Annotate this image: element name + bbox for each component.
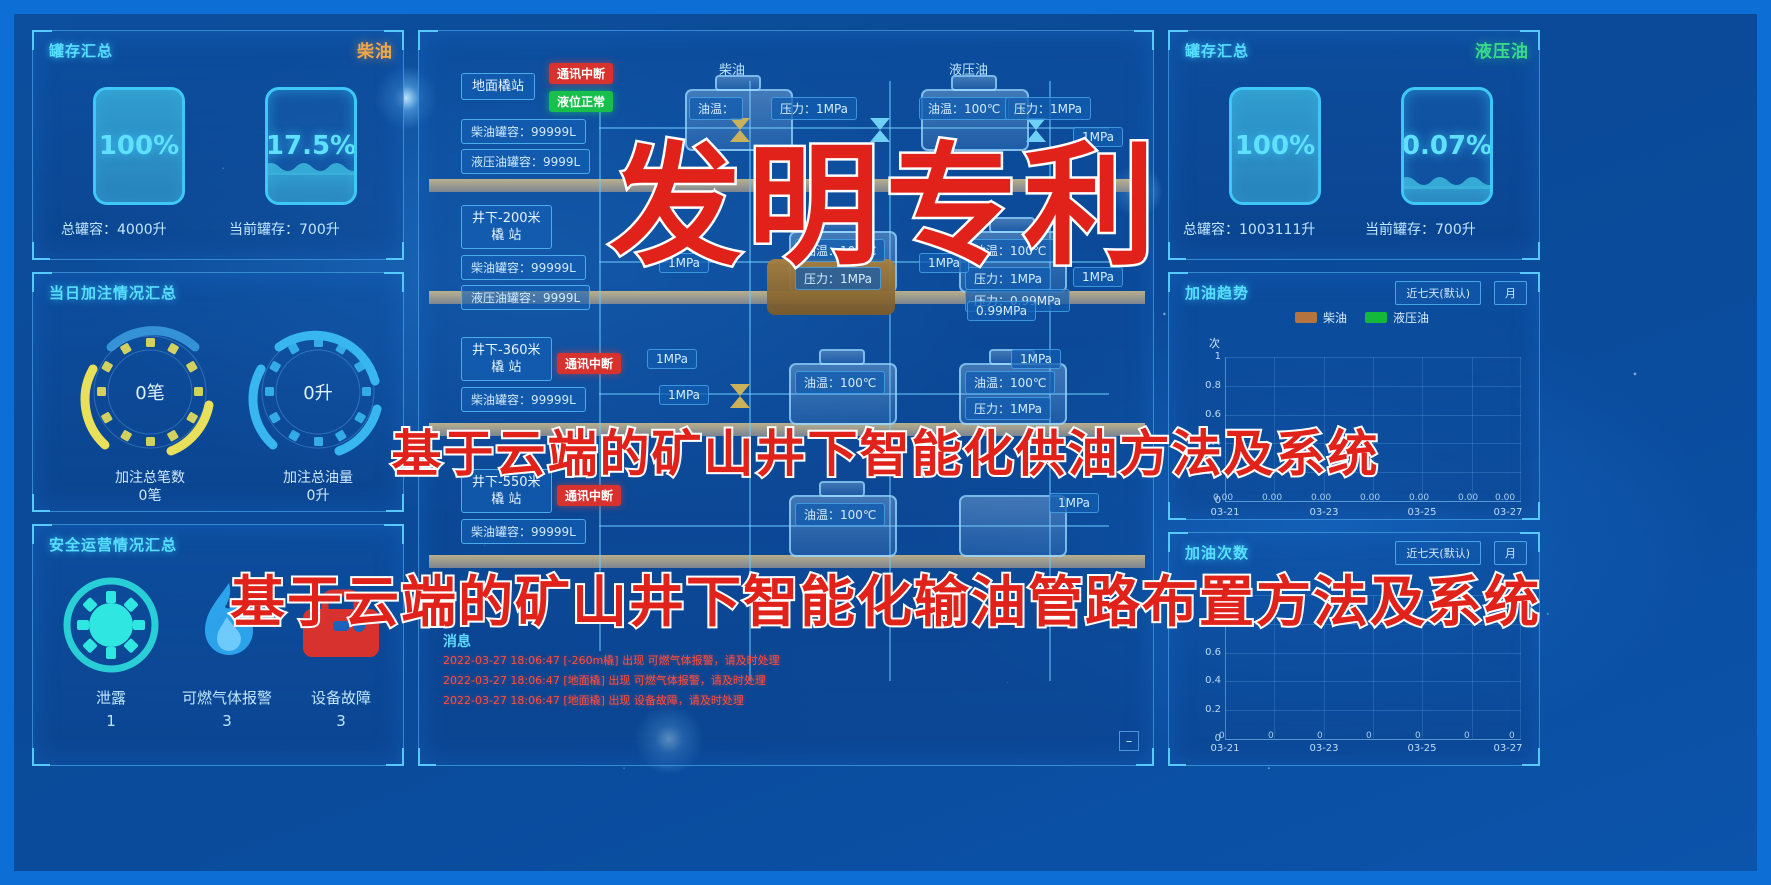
station-tag-diesel-cap: 柴油罐容：99999L (461, 387, 586, 412)
station-badge-level: 液位正常 (549, 91, 613, 112)
oil-type-label: 液压油 (1475, 37, 1529, 62)
panel-title: 安全运营情况汇总 (49, 534, 177, 555)
station-name-line-2: 橇 站 (472, 491, 541, 508)
chart-data-label: 0 (1464, 731, 1470, 741)
station-label-360[interactable]: 井下-360米 橇 站 (461, 337, 552, 381)
chart-data-label: 0 (1219, 731, 1225, 741)
station-name-line-1: 井下-360米 (472, 342, 541, 359)
chart-xtick: 03-25 (1399, 507, 1445, 518)
station-name-line-2: 橇 站 (472, 359, 541, 376)
vessel-temp-tag: 油温：100℃ (795, 371, 885, 394)
tank-total-caption: 总罐容：1003111升 (1183, 219, 1315, 239)
chart-data-label: 0.00 (1213, 493, 1233, 503)
minimize-icon[interactable]: – (1119, 731, 1139, 751)
chart-range-button-month[interactable]: 月 (1494, 281, 1527, 305)
station-badge-comm: 通讯中断 (549, 63, 613, 84)
tank-percent: 100% (96, 90, 182, 202)
chart-data-label: 0.00 (1495, 493, 1515, 503)
legend-label-diesel: 柴油 (1323, 309, 1347, 326)
gear-icon (59, 573, 163, 677)
vessel-temp-tag: 油温：100℃ (965, 371, 1055, 394)
legend-swatch-diesel (1295, 312, 1317, 323)
chart-data-label: 0 (1415, 731, 1421, 741)
message-panel: 消息 2022-03-27 18:06:47 [-260m橇] 出现 可燃气体报… (443, 631, 1133, 711)
safety-item-count: 3 (175, 712, 279, 730)
watermark-patent-title: 发明专利 (610, 100, 1162, 291)
station-tag-diesel-cap: 柴油罐容：99999L (461, 519, 586, 544)
vessel-title-hydraulic: 液压油 (949, 59, 988, 78)
message-row: 2022-03-27 18:06:47 [地面橇] 出现 可燃气体报警，请及时处… (443, 671, 1133, 691)
chart-data-label: 0.00 (1262, 493, 1282, 503)
station-tag-diesel-cap: 柴油罐容：99999L (461, 255, 586, 280)
tank-gauge-total: 100% (1229, 87, 1321, 205)
ring-gauge-volume: 0升 (243, 317, 393, 467)
pressure-tag-precise: 0.99MPa (967, 301, 1036, 321)
station-tag-hyd-cap: 液压油罐容：9999L (461, 285, 590, 310)
message-row: 2022-03-27 18:06:47 [-260m橇] 出现 可燃气体报警，请… (443, 651, 1133, 671)
tank-current-caption: 当前罐存：700升 (1365, 219, 1476, 239)
ring-gauge-value: 0升 (243, 317, 393, 467)
oil-type-label: 柴油 (357, 37, 393, 62)
panel-title: 罐存汇总 (1185, 40, 1249, 61)
chart-ytick: 0.8 (1195, 380, 1221, 391)
legend-item-diesel[interactable]: 柴油 (1295, 309, 1347, 326)
station-badge-comm: 通讯中断 (557, 353, 621, 374)
vessel-neck (819, 349, 865, 365)
panel-right-tank-summary: 罐存汇总 液压油 100% 总罐容：1003111升 0.07% 当前罐存：70… (1168, 30, 1540, 260)
panel-left-daily-refuel: 当日加注情况汇总 (32, 272, 404, 512)
chart-xtick: 03-23 (1301, 743, 1347, 754)
watermark-line-2: 基于云端的矿山井下智能化输油管路布置方法及系统 (230, 557, 1541, 637)
tank-total-caption: 总罐容：4000升 (61, 219, 167, 239)
chart-xtick: 03-23 (1301, 507, 1347, 518)
watermark-line-1: 基于云端的矿山井下智能化供油方法及系统 (392, 414, 1380, 486)
panel-left-tank-summary: 罐存汇总 柴油 100% 总罐容：4000升 17.5% 当前罐存：700升 (32, 30, 404, 260)
tank-gauge-total: 100% (93, 87, 185, 205)
pressure-tag: 1MPa (1011, 349, 1061, 369)
chart-data-label: 0 (1366, 731, 1372, 741)
panel-title: 加油趋势 (1185, 282, 1249, 303)
tank-current-caption: 当前罐存：700升 (229, 219, 340, 239)
pressure-tag: 1MPa (1049, 493, 1099, 513)
station-name-line-2: 橇 站 (472, 227, 541, 244)
legend-item-hydraulic[interactable]: 液压油 (1365, 309, 1429, 326)
dashboard-root: 罐存汇总 柴油 100% 总罐容：4000升 17.5% 当前罐存：700升 当… (0, 0, 1771, 885)
chart-data-label: 0 (1317, 731, 1323, 741)
safety-item-label: 可燃气体报警 (175, 687, 279, 708)
tank-gauge-current: 0.07% (1401, 87, 1493, 205)
legend-label-hydraulic: 液压油 (1393, 309, 1429, 326)
chart-xtick: 03-27 (1485, 507, 1531, 518)
pressure-tag: 1MPa (659, 385, 709, 405)
chart-data-label: 0.00 (1360, 493, 1380, 503)
tank-percent: 100% (1232, 90, 1318, 202)
safety-item-label: 泄露 (59, 687, 163, 708)
tank-percent: 0.07% (1404, 90, 1490, 202)
chart-ytick: 0.6 (1195, 647, 1221, 658)
chart-xtick: 03-27 (1485, 743, 1531, 754)
message-row: 2022-03-27 18:06:47 [地面橇] 出现 设备故障，请及时处理 (443, 691, 1133, 711)
tank-percent: 17.5% (268, 90, 354, 202)
chart-data-label: 0 (1268, 731, 1274, 741)
ring-gauge-count: 0笔 (75, 317, 225, 467)
ring-gauge-value: 0笔 (75, 317, 225, 467)
caption-line-1: 加注总油量 (258, 469, 378, 487)
chart-ytick: 1 (1195, 351, 1221, 362)
vessel-title-diesel: 柴油 (719, 59, 745, 78)
dashboard-frame: 罐存汇总 柴油 100% 总罐容：4000升 17.5% 当前罐存：700升 当… (0, 0, 1771, 885)
chart-data-label: 0.00 (1458, 493, 1478, 503)
chart-legend: 柴油 液压油 (1295, 309, 1429, 326)
caption-line-1: 加注总笔数 (90, 469, 210, 487)
vessel-temp-tag: 油温：100℃ (795, 503, 885, 526)
caption-line-2: 0升 (258, 487, 378, 505)
ring-gauge-count-caption: 加注总笔数 0笔 (90, 469, 210, 505)
safety-item-label: 设备故障 (289, 687, 393, 708)
panel-title: 当日加注情况汇总 (49, 282, 177, 303)
chart-ytick: 0.4 (1195, 675, 1221, 686)
station-name-line-1: 井下-200米 (472, 210, 541, 227)
station-badge-comm: 通讯中断 (557, 485, 621, 506)
station-tag-hyd-cap: 液压油罐容：9999L (461, 149, 590, 174)
chart-data-label: 0.00 (1311, 493, 1331, 503)
safety-item-leak[interactable]: 泄露 1 (59, 573, 163, 730)
chart-xtick: 03-25 (1399, 743, 1445, 754)
station-label-ground[interactable]: 地面橇站 (461, 73, 535, 100)
valve-icon (729, 383, 751, 409)
chart-xtick: 03-21 (1202, 507, 1248, 518)
panel-title: 罐存汇总 (49, 40, 113, 61)
pressure-tag: 1MPa (647, 349, 697, 369)
legend-swatch-hydraulic (1365, 312, 1387, 323)
station-tag-diesel-cap: 柴油罐容：99999L (461, 119, 586, 144)
caption-line-2: 0笔 (90, 487, 210, 505)
chart-xtick: 03-21 (1202, 743, 1248, 754)
safety-item-count: 1 (59, 712, 163, 730)
tank-gauge-current: 17.5% (265, 87, 357, 205)
station-label-200[interactable]: 井下-200米 橇 站 (461, 205, 552, 249)
safety-item-count: 3 (289, 712, 393, 730)
chart-data-label: 0 (1509, 731, 1515, 741)
chart-range-button-week[interactable]: 近七天(默认) (1395, 281, 1481, 305)
chart-data-label: 0.00 (1409, 493, 1429, 503)
chart-y-unit: 次 (1209, 335, 1220, 351)
chart-ytick: 0.2 (1195, 704, 1221, 715)
ring-gauge-volume-caption: 加注总油量 0升 (258, 469, 378, 505)
